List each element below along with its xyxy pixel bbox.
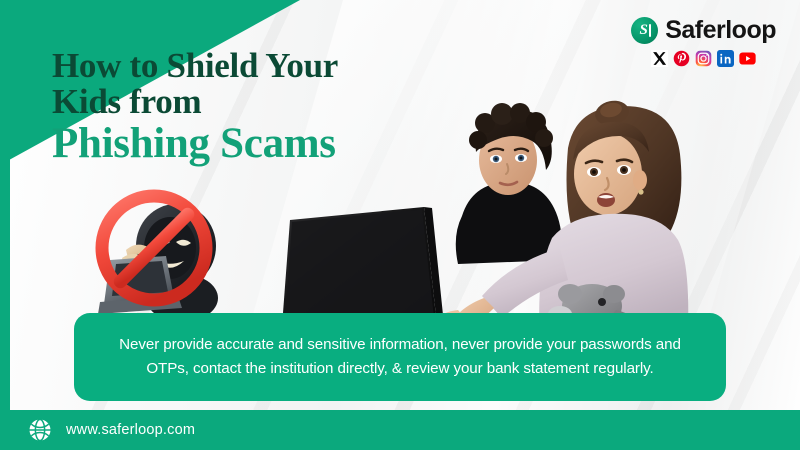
brand-name: Saferloop (665, 16, 776, 45)
advice-text: Never provide accurate and sensitive inf… (98, 333, 702, 380)
footer-bar: www.saferloop.com (0, 410, 800, 450)
social-links (651, 50, 756, 67)
pinterest-icon[interactable] (673, 50, 690, 67)
poster-canvas: How to Shield Your Kids from Phishing Sc… (0, 0, 800, 450)
logo-s-glyph: S (640, 23, 648, 38)
globe-icon (28, 418, 52, 442)
linkedin-icon[interactable] (717, 50, 734, 67)
children-photo (440, 88, 730, 333)
advice-banner: Never provide accurate and sensitive inf… (74, 313, 726, 401)
headline-line-2: Kids from (52, 84, 338, 120)
instagram-icon[interactable] (695, 50, 712, 67)
hacker-blocked-icon (78, 186, 238, 321)
saferloop-logo-icon: S (631, 17, 658, 44)
headline-line-1: How to Shield Your (52, 48, 338, 84)
youtube-icon[interactable] (739, 50, 756, 67)
brand-row: S Saferloop (631, 16, 776, 45)
footer-url[interactable]: www.saferloop.com (66, 422, 195, 438)
logo-bar-glyph (649, 24, 651, 37)
left-green-strip (0, 0, 10, 418)
x-icon[interactable] (651, 50, 668, 67)
headline: How to Shield Your Kids from Phishing Sc… (52, 48, 338, 166)
headline-line-3: Phishing Scams (52, 122, 338, 166)
brand-lockup[interactable]: S Saferloop (631, 16, 776, 67)
